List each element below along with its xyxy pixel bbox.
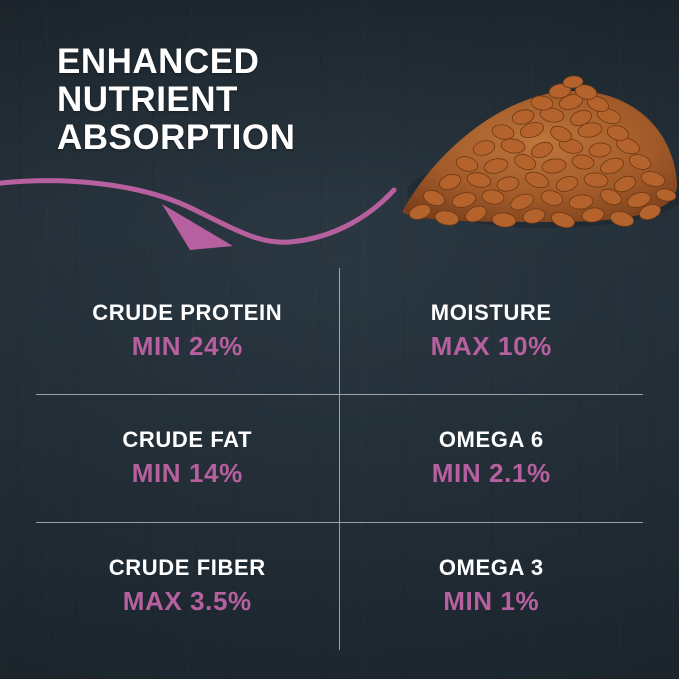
product-infographic: Enhanced Nutrient Absorption <box>0 0 679 679</box>
table-cell-omega-6: Omega 6 MIN 2.1% <box>340 395 644 522</box>
nutrient-label: Crude Fiber <box>109 555 266 581</box>
table-cell-moisture: Moisture MAX 10% <box>340 268 644 395</box>
nutrient-label: Omega 6 <box>439 427 544 453</box>
table-cell-omega-3: Omega 3 MIN 1% <box>340 523 644 650</box>
nutrient-value: MIN 14% <box>132 458 243 489</box>
table-cell-crude-protein: Crude Protein MIN 24% <box>36 268 340 395</box>
nutrient-value: MIN 2.1% <box>432 458 551 489</box>
nutrient-label: Crude Protein <box>92 300 282 326</box>
table-cell-crude-fiber: Crude Fiber MAX 3.5% <box>36 523 340 650</box>
nutrient-value: MIN 24% <box>132 331 243 362</box>
nutrient-label: Moisture <box>431 300 552 326</box>
nutrition-table: Crude Protein MIN 24% Moisture MAX 10% C… <box>36 268 643 650</box>
kibble-pile-image <box>372 62 679 234</box>
nutrient-label: Omega 3 <box>439 555 544 581</box>
nutrient-label: Crude Fat <box>122 427 252 453</box>
curved-arrow-icon <box>0 160 410 270</box>
nutrient-value: MIN 1% <box>443 586 539 617</box>
nutrient-value: MAX 3.5% <box>123 586 252 617</box>
page-title: Enhanced Nutrient Absorption <box>57 43 295 156</box>
nutrient-value: MAX 10% <box>431 331 552 362</box>
table-cell-crude-fat: Crude Fat MIN 14% <box>36 395 340 522</box>
